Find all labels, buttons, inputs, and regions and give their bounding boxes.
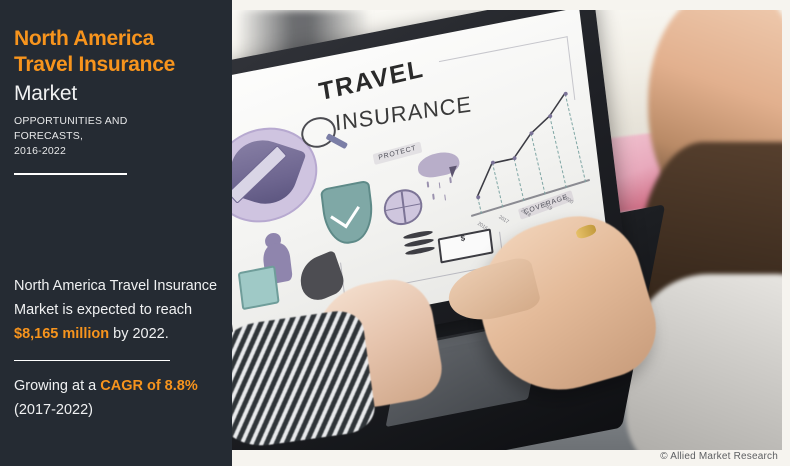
coin-stack-icon	[402, 229, 435, 258]
copyright-notice: © Allied Market Research	[660, 451, 778, 462]
title-line-1: North America	[14, 26, 232, 52]
title-line-2: Travel Insurance	[14, 52, 232, 78]
chart-x-tick: 2017	[497, 214, 509, 225]
divider-top	[14, 173, 127, 175]
label-protect: PROTECT	[373, 141, 423, 165]
subtitle-line-1: OPPORTUNITIES AND FORECASTS,	[14, 114, 199, 144]
cagr-period: (2017-2022)	[14, 402, 93, 418]
cagr-statement: Growing at a CAGR of 8.8%(2017-2022)	[14, 374, 219, 422]
globe-icon	[382, 185, 424, 228]
subtitle-line-2: 2016-2022	[14, 144, 199, 159]
divider-middle	[14, 360, 170, 362]
infographic-root: North America Travel Insurance Market OP…	[0, 0, 790, 466]
stat-text-before: North America Travel Insurance Market is…	[14, 278, 217, 318]
subtitle: OPPORTUNITIES AND FORECASTS, 2016-2022	[14, 114, 199, 159]
chart-x-tick: 2016	[476, 220, 488, 231]
stat-text-after: by 2022.	[109, 326, 169, 342]
cagr-text-before: Growing at a	[14, 378, 100, 394]
cagr-value: CAGR of 8.8%	[100, 378, 198, 394]
left-text-panel: North America Travel Insurance Market OP…	[0, 0, 232, 466]
title-line-3: Market	[14, 80, 232, 108]
stat-value: $8,165 million	[14, 326, 109, 342]
chart-point	[547, 113, 552, 118]
hero-photo: TRAVEL INSURANCE PROTECT COVERAGE	[225, 10, 782, 450]
stat-statement: North America Travel Insurance Market is…	[14, 274, 219, 346]
lightning-bolt-icon	[448, 165, 457, 178]
page-title: North America Travel Insurance Market	[14, 26, 232, 108]
striped-sleeve	[225, 308, 378, 450]
suitcase-icon	[237, 265, 279, 310]
